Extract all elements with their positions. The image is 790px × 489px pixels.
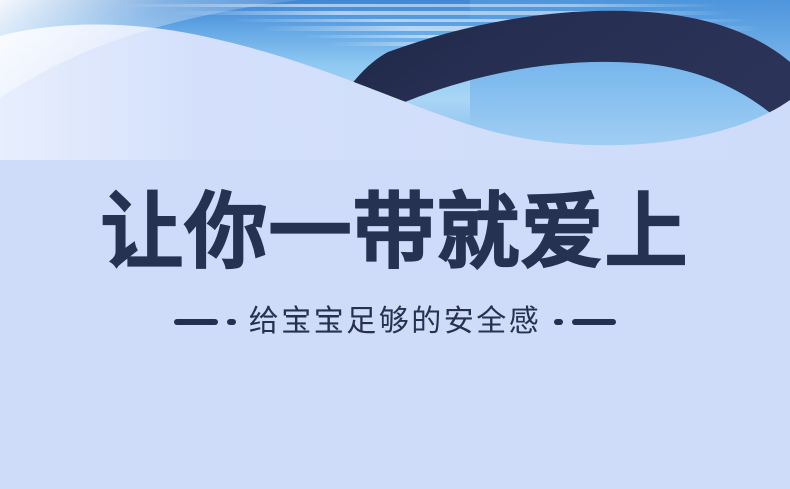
page-title: 让你一带就爱上 [101, 190, 689, 276]
right-dash-decoration [572, 319, 616, 325]
left-dash-decoration [174, 319, 218, 325]
subtitle-row: 给宝宝足够的安全感 [174, 307, 617, 337]
banner-copy: 让你一带就爱上 给宝宝足够的安全感 [0, 0, 790, 489]
promo-banner: 让你一带就爱上 给宝宝足够的安全感 [0, 0, 790, 489]
right-dot-decoration [554, 319, 563, 325]
left-dot-decoration [227, 319, 236, 325]
subtitle: 给宝宝足够的安全感 [249, 307, 542, 337]
